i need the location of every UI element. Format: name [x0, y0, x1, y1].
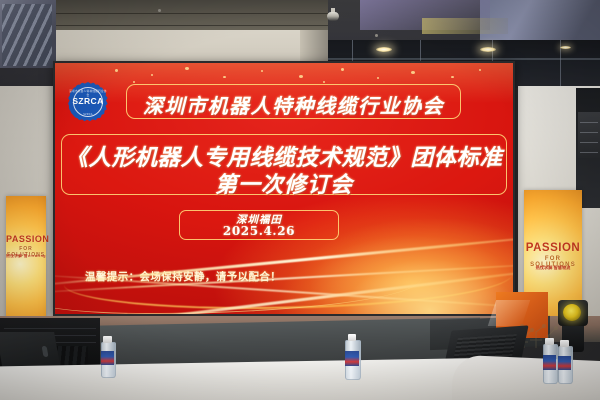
head-table-right — [452, 355, 600, 400]
water-bottle — [558, 340, 571, 382]
banner-left-headline: PASSION — [6, 234, 46, 244]
bottle-label — [101, 351, 114, 365]
confetti-dot — [451, 76, 454, 78]
water-bottle — [101, 336, 114, 376]
banner-left-chinese: 热忱求解 智creating — [6, 254, 46, 259]
logo-abbr: SZRCA — [68, 96, 108, 106]
structure-slat — [4, 328, 96, 329]
confetti-dot — [223, 76, 226, 78]
association-title: 深圳市机器人特种线缆行业协会 — [126, 90, 461, 119]
ceiling-glass-panel-left — [0, 0, 56, 68]
standing-banner-left: PASSION FOR SOLUTIONS 热忱求解 智creating — [6, 196, 46, 320]
ceiling-reflection-yellow — [422, 18, 508, 34]
ceiling-soffit — [56, 0, 328, 32]
szrca-logo: 深圳市机器人特种线缆行业协会 SZRCA SZRCA — [68, 82, 108, 122]
rack-shelf-line — [580, 152, 598, 153]
bottle-label — [543, 355, 556, 370]
bottle-cap — [348, 334, 357, 341]
soffit-seam — [56, 13, 328, 14]
banner-right-headline: PASSION — [524, 242, 582, 254]
rack-shelf-line — [580, 122, 598, 123]
confetti-dot — [115, 69, 118, 72]
confetti-dot — [133, 81, 135, 83]
rack-shelf-line — [580, 142, 598, 143]
confetti-dot — [341, 68, 344, 71]
bottle-label — [345, 351, 359, 366]
confetti-dot — [299, 75, 303, 78]
logo-arc-bottom-text: SZRCA — [68, 113, 108, 116]
confetti-dot — [377, 77, 379, 79]
confetti-dot — [261, 70, 263, 72]
sprinkler-head — [375, 34, 378, 37]
ceiling-downlight — [560, 46, 571, 49]
rack-shelf-line — [580, 132, 598, 133]
glass-louvers — [2, 4, 52, 66]
bottle-cap — [103, 336, 111, 343]
light-lens-icon — [563, 304, 581, 321]
cctv-camera-icon — [327, 12, 339, 21]
corner-warm-glow — [279, 219, 513, 314]
confetti-dot — [479, 69, 481, 71]
bottle-cap — [545, 338, 553, 345]
ceiling-downlight — [480, 47, 496, 52]
confetti-dot — [185, 67, 189, 70]
confetti-dot — [323, 81, 325, 83]
soffit-seam — [56, 25, 328, 26]
led-screen: 深圳市机器人特种线缆行业协会 SZRCA SZRCA 深圳市机器人特种线缆行业协… — [55, 63, 513, 314]
water-bottle — [345, 334, 359, 378]
standard-title-line-2: 第一次修订会 — [61, 167, 507, 199]
monitor-handle — [42, 346, 49, 357]
banner-right-chinese: 热忱求解 智慧物流 — [524, 265, 582, 271]
ceiling-downlight — [376, 47, 392, 52]
sprinkler-head — [158, 9, 161, 12]
water-bottle — [543, 338, 556, 382]
led-screen-frame: 深圳市机器人特种线缆行业协会 SZRCA SZRCA 深圳市机器人特种线缆行业协… — [53, 61, 515, 316]
bottle-cap — [560, 340, 568, 347]
confetti-dot — [151, 74, 153, 76]
conference-hall-scene: PASSION FOR SOLUTIONS 热忱求解 智creating PAS… — [0, 0, 600, 400]
bottle-label — [558, 356, 571, 370]
confetti-dot — [411, 71, 415, 74]
